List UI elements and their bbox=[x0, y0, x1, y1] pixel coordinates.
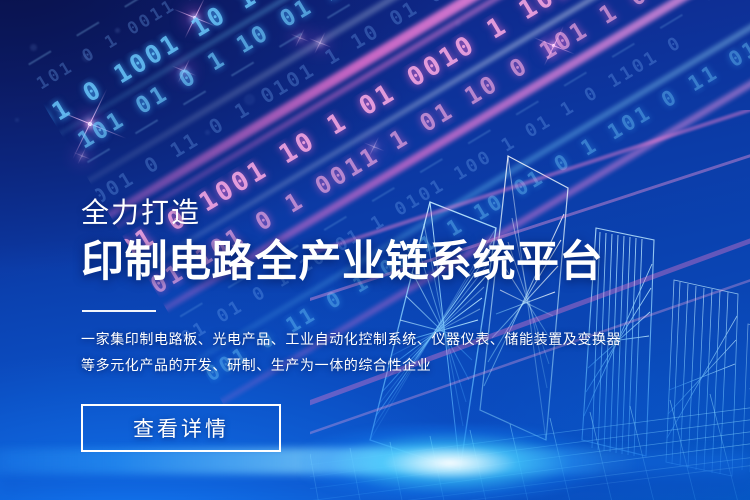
divider bbox=[82, 310, 156, 312]
dust-particle bbox=[15, 118, 19, 122]
eyebrow-text: 全力打造 bbox=[81, 196, 601, 230]
hero-copy: 全力打造 印制电路全产业链系统平台 一家集印制电路板、光电产品、工业自动化控制系… bbox=[81, 196, 601, 378]
page-title: 印制电路全产业链系统平台 bbox=[81, 236, 601, 288]
light-burst-glow bbox=[300, 424, 600, 500]
description-line-2: 等多元化产品的开发、研制、生产为一体的综合性企业 bbox=[81, 352, 601, 378]
description-text: 一家集印制电路板、光电产品、工业自动化控制系统、仪器仪表、储能装置及变换器 等多… bbox=[81, 326, 601, 378]
hero-banner: 0101 10 01 101 0 1 0011 1 01 10 0 101 1 … bbox=[0, 0, 750, 500]
description-line-1: 一家集印制电路板、光电产品、工业自动化控制系统、仪器仪表、储能装置及变换器 bbox=[81, 326, 601, 352]
view-details-button[interactable]: 查看详情 bbox=[81, 404, 281, 452]
